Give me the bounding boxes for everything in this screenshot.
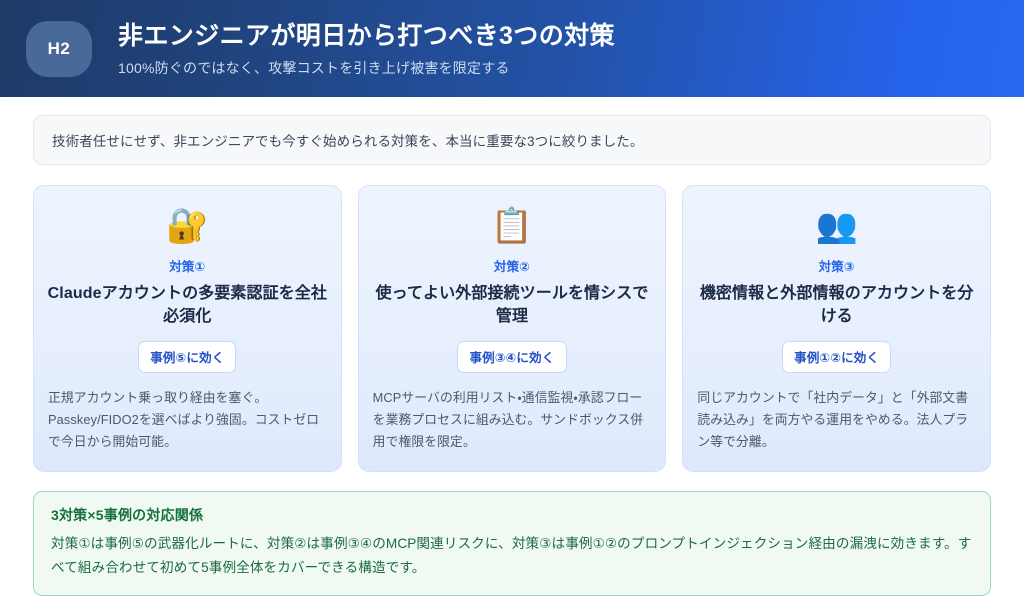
header-text-block: 非エンジニアが明日から打つべき3つの対策 100%防ぐのではなく、攻撃コストを引…: [118, 21, 615, 77]
slide-header: H2 非エンジニアが明日から打つべき3つの対策 100%防ぐのではなく、攻撃コス…: [0, 0, 1024, 97]
measure-case-badge: 事例⑤に効く: [138, 341, 236, 373]
summary-title: 3対策×5事例の対応関係: [51, 505, 973, 525]
measure-card-1: 🔐 対策① Claudeアカウントの多要素認証を全社必須化 事例⑤に効く 正規ア…: [33, 185, 342, 472]
measure-kicker: 対策①: [169, 256, 205, 275]
measure-case-badge: 事例①②に効く: [782, 341, 891, 373]
measure-description: 正規アカウント乗っ取り経由を塞ぐ。Passkey/FIDO2を選べばより強固。コ…: [47, 387, 328, 453]
measures-card-grid: 🔐 対策① Claudeアカウントの多要素認証を全社必須化 事例⑤に効く 正規ア…: [33, 185, 991, 472]
clipboard-icon: 📋: [491, 206, 533, 246]
page-subtitle: 100%防ぐのではなく、攻撃コストを引き上げ被害を限定する: [118, 60, 615, 77]
measure-title: Claudeアカウントの多要素認証を全社必須化: [47, 282, 328, 328]
measure-title: 使ってよい外部接続ツールを情シスで管理: [372, 282, 653, 328]
measure-card-3: 👥 対策③ 機密情報と外部情報のアカウントを分ける 事例①②に効く 同じアカウン…: [682, 185, 991, 472]
measure-description: 同じアカウントで「社内データ」と「外部文書読み込み」を両方やる運用をやめる。法人…: [696, 387, 977, 453]
heading-level-badge: H2: [26, 21, 92, 77]
measure-description: MCPサーバの利用リスト・通信監視・承認フローを業務プロセスに組み込む。サンドボ…: [372, 387, 653, 453]
summary-body: 対策①は事例⑤の武器化ルートに、対策②は事例③④のMCP関連リスクに、対策③は事…: [51, 532, 973, 580]
measure-case-badge: 事例③④に効く: [457, 341, 566, 373]
measure-kicker: 対策②: [494, 256, 530, 275]
measure-card-2: 📋 対策② 使ってよい外部接続ツールを情シスで管理 事例③④に効く MCPサーバ…: [358, 185, 667, 472]
locked-with-key-icon: 🔐: [166, 206, 208, 246]
slide-content: 技術者任せにせず、非エンジニアでも今すぐ始められる対策を、本当に重要な3つに絞り…: [0, 97, 1024, 596]
summary-callout: 3対策×5事例の対応関係 対策①は事例⑤の武器化ルートに、対策②は事例③④のMC…: [33, 491, 991, 596]
measure-title: 機密情報と外部情報のアカウントを分ける: [696, 282, 977, 328]
page-title: 非エンジニアが明日から打つべき3つの対策: [118, 21, 615, 51]
intro-callout: 技術者任せにせず、非エンジニアでも今すぐ始められる対策を、本当に重要な3つに絞り…: [33, 115, 991, 165]
measure-kicker: 対策③: [819, 256, 855, 275]
busts-in-silhouette-icon: 👥: [816, 206, 858, 246]
